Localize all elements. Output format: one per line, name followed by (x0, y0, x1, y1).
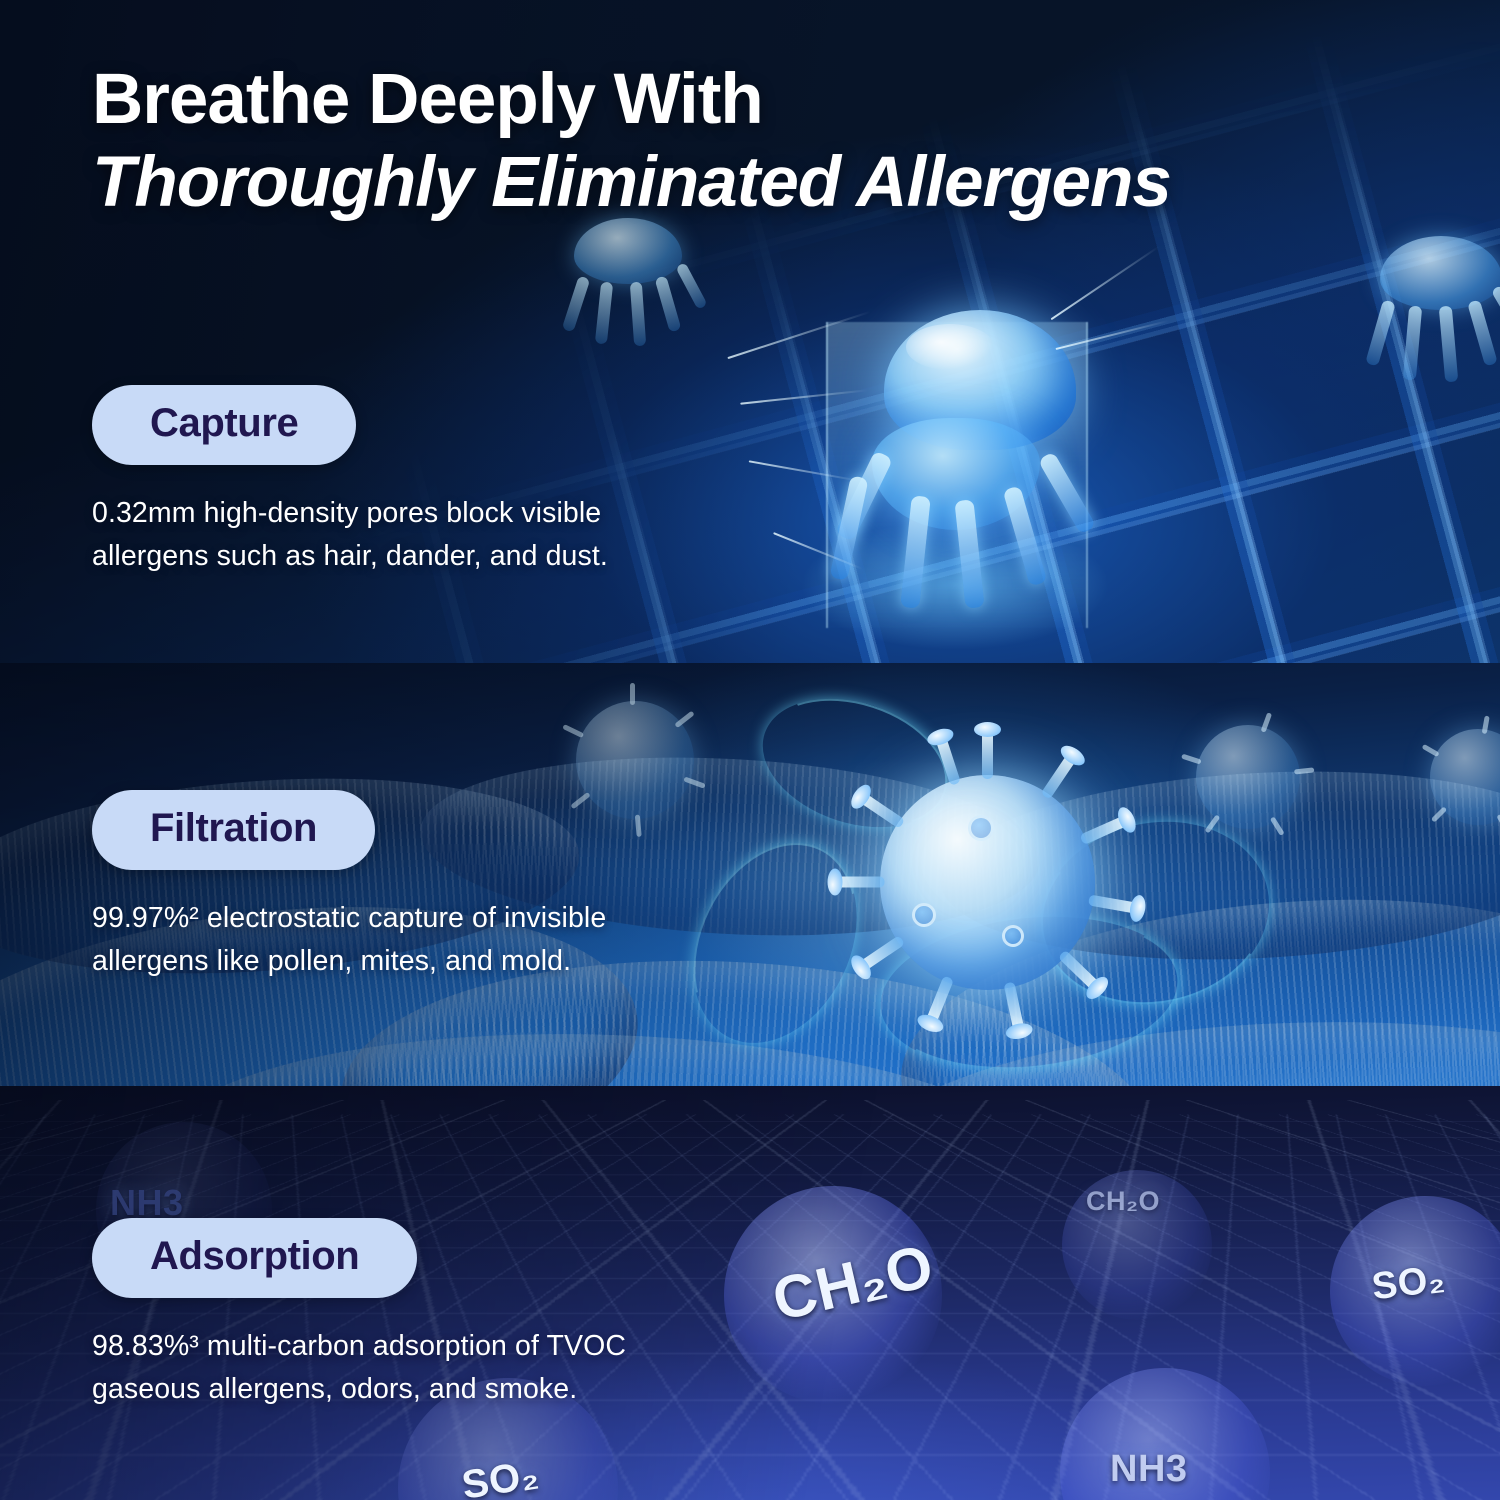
description-filtration-line-2: allergens like pollen, mites, and mold. (92, 945, 571, 977)
description-adsorption: 98.83%³ multi-carbon adsorption of TVOC … (92, 1325, 752, 1412)
feature-block-filtration: Filtration 99.97%² electrostatic capture… (92, 790, 752, 984)
headline-line-1: Breathe Deeply With (92, 62, 1382, 139)
virus-particle-icon (880, 775, 1095, 990)
dust-mite-icon-edge (1352, 236, 1500, 396)
description-filtration-line-1: 99.97%² electrostatic capture of invisib… (92, 902, 606, 934)
dust-mite-icon-secondary (540, 218, 730, 348)
description-capture-line-1: 0.32mm high-density pores block visible (92, 497, 601, 529)
badge-filtration: Filtration (92, 790, 375, 870)
badge-adsorption: Adsorption (92, 1218, 417, 1298)
molecule-label-nh3-bottom: NH3 (1110, 1448, 1188, 1491)
dust-mite-icon (810, 300, 1160, 630)
description-capture: 0.32mm high-density pores block visible … (92, 492, 752, 579)
molecule-label-ch2o-secondary: CH₂O (1086, 1186, 1160, 1217)
description-adsorption-line-1: 98.83%³ multi-carbon adsorption of TVOC (92, 1330, 626, 1362)
virus-particle-icon-small (1196, 725, 1300, 829)
molecule-label-so2-right: SO₂ (1370, 1258, 1448, 1310)
headline: Breathe Deeply With Thoroughly Eliminate… (92, 62, 1382, 222)
description-adsorption-line-2: gaseous allergens, odors, and smoke. (92, 1373, 577, 1405)
feature-block-capture: Capture 0.32mm high-density pores block … (92, 385, 752, 579)
feature-block-adsorption: Adsorption 98.83%³ multi-carbon adsorpti… (92, 1218, 752, 1412)
description-capture-line-2: allergens such as hair, dander, and dust… (92, 540, 608, 572)
description-filtration: 99.97%² electrostatic capture of invisib… (92, 897, 752, 984)
headline-line-2: Thoroughly Eliminated Allergens (92, 143, 1382, 223)
badge-capture: Capture (92, 385, 356, 465)
product-feature-poster: CH₂O CH₂O SO₂ SO₂ NH3 NH3 Breathe Deeply… (0, 0, 1500, 1500)
